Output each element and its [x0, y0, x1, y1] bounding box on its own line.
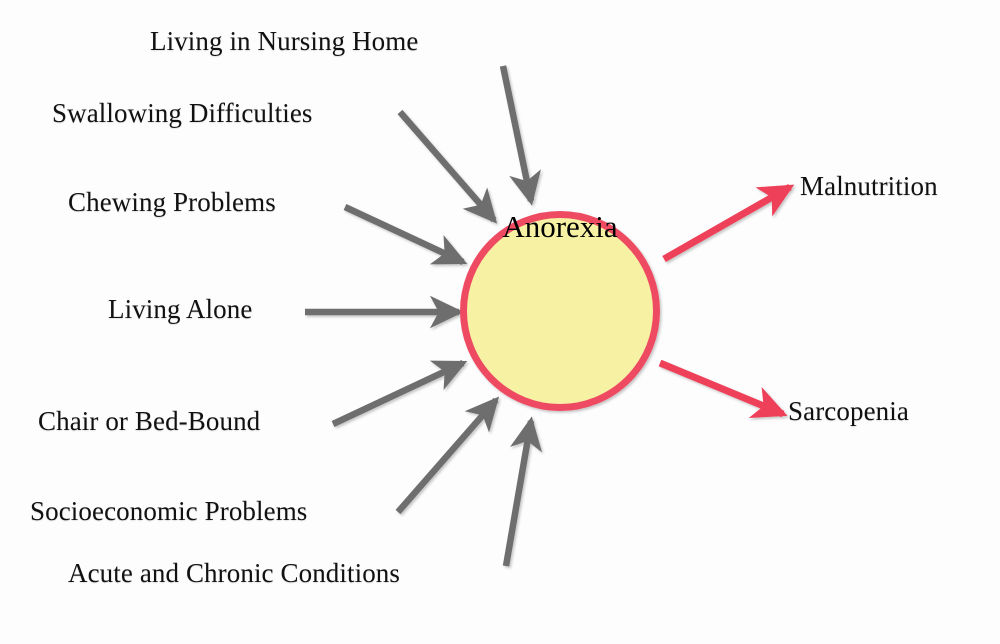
arrow-line — [660, 363, 783, 414]
cause-label-chair-or-bed-bound[interactable]: Chair or Bed-Bound — [38, 408, 260, 435]
effect-arrow-group — [660, 187, 790, 414]
cause-label-swallowing-difficulties[interactable]: Swallowing Difficulties — [52, 100, 313, 127]
cause-label-acute-and-chronic-conditions[interactable]: Acute and Chronic Conditions — [68, 560, 400, 587]
arrow-line — [664, 187, 790, 259]
center-node-label: Anorexia — [460, 211, 660, 242]
arrow-line — [506, 421, 531, 566]
cause-label-living-in-nursing-home[interactable]: Living in Nursing Home — [150, 28, 418, 55]
cause-label-chewing-problems[interactable]: Chewing Problems — [68, 189, 276, 216]
arrow-line — [333, 363, 463, 424]
arrow-line — [398, 400, 496, 512]
arrow-line — [400, 112, 494, 220]
cause-label-socioeconomic-problems[interactable]: Socioeconomic Problems — [30, 498, 307, 525]
consequence-label-malnutrition[interactable]: Malnutrition — [800, 173, 938, 200]
diagram-canvas: Anorexia Living in Nursing HomeSwallowin… — [0, 0, 1000, 644]
consequence-label-sarcopenia[interactable]: Sarcopenia — [788, 398, 909, 425]
cause-label-living-alone[interactable]: Living Alone — [108, 296, 252, 323]
arrow-line — [345, 207, 463, 262]
arrow-line — [503, 66, 531, 201]
center-node[interactable]: Anorexia — [460, 211, 660, 411]
